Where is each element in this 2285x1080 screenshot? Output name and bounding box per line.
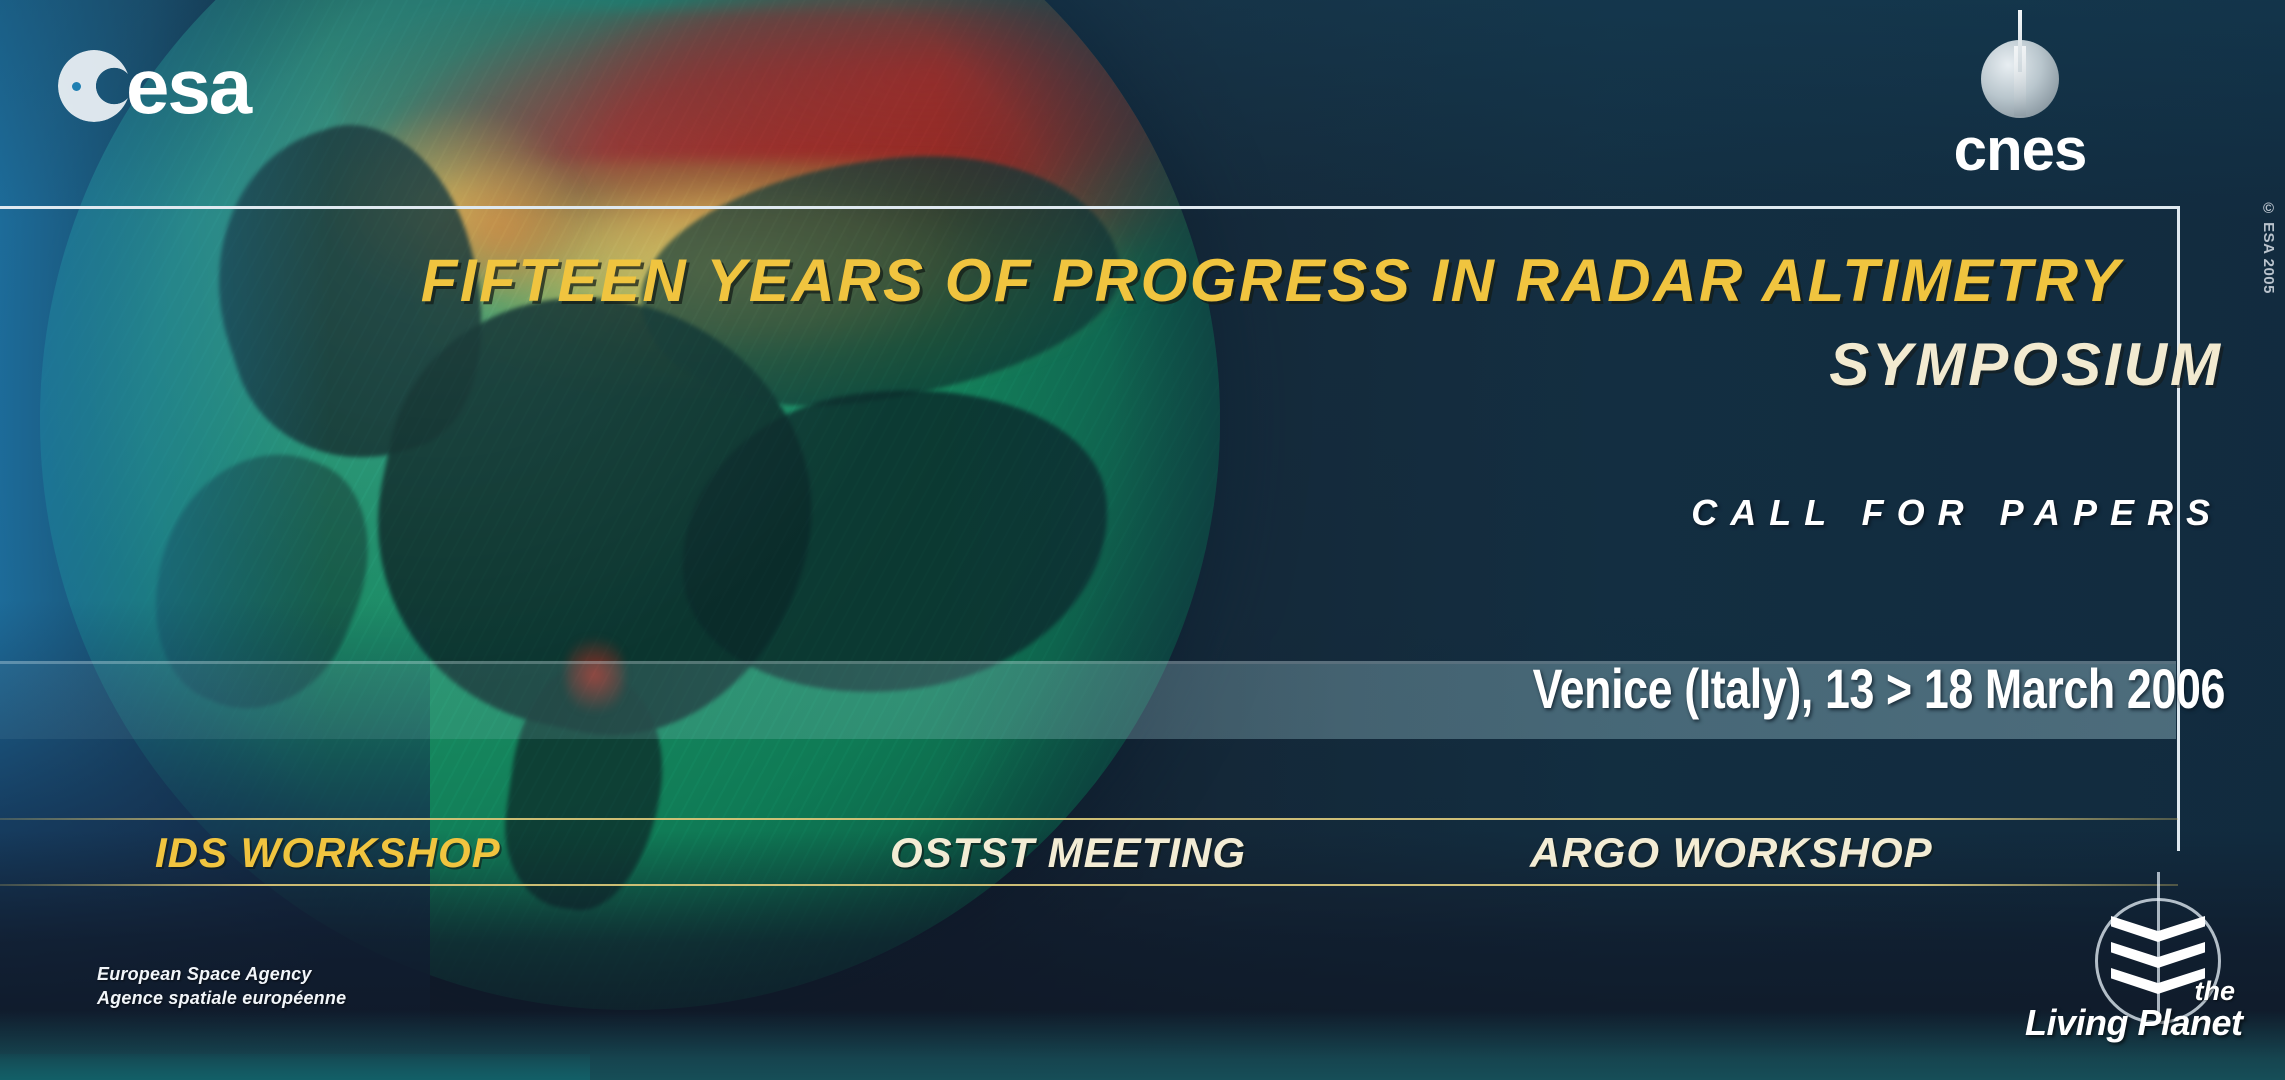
esa-wordmark: esa xyxy=(126,51,250,121)
agency-name-english: European Space Agency xyxy=(97,962,346,986)
copyright-notice: © ESA 2005 xyxy=(2260,200,2277,294)
venue-and-dates: Venice (Italy), 13 > 18 March 2006 xyxy=(1025,656,2225,721)
gold-rule-top xyxy=(0,818,2178,820)
workshop-item-ostst[interactable]: OSTST MEETING xyxy=(890,829,1246,877)
agency-name-french: Agence spatiale européenne xyxy=(97,986,346,1010)
page-title: FIFTEEN YEARS OF PROGRESS IN RADAR ALTIM… xyxy=(62,250,2122,312)
bottom-left-teal-strip xyxy=(0,1054,590,1080)
page-subtitle: SYMPOSIUM xyxy=(823,330,2223,399)
esa-agency-footer: European Space Agency Agence spatiale eu… xyxy=(97,962,346,1011)
workshop-item-ids[interactable]: IDS WORKSHOP xyxy=(155,829,501,877)
living-planet-name-label: Living Planet xyxy=(2025,1002,2243,1044)
poster-root: esa cnes © ESA 2005 FIFTEEN YEARS OF PRO… xyxy=(0,0,2285,1080)
living-planet-stem-icon xyxy=(2157,872,2160,1022)
workshop-item-argo[interactable]: ARGO WORKSHOP xyxy=(1530,829,1933,877)
cnes-logo[interactable]: cnes xyxy=(1925,18,2115,180)
esa-logo[interactable]: esa xyxy=(58,50,250,122)
cnes-wordmark: cnes xyxy=(1925,120,2115,180)
esa-crescent-shape xyxy=(58,50,130,122)
cnes-antenna xyxy=(2018,10,2022,72)
living-planet-logo[interactable]: the Living Planet xyxy=(2023,890,2263,1040)
cnes-sphere-icon xyxy=(1981,40,2059,118)
esa-crescent-icon xyxy=(58,50,130,122)
workshops-row: IDS WORKSHOP OSTST MEETING ARGO WORKSHOP xyxy=(0,823,2178,883)
gold-rule-bottom xyxy=(0,884,2178,886)
header-band: esa cnes xyxy=(0,0,2285,195)
call-for-papers-label: CALL FOR PAPERS xyxy=(823,492,2223,534)
